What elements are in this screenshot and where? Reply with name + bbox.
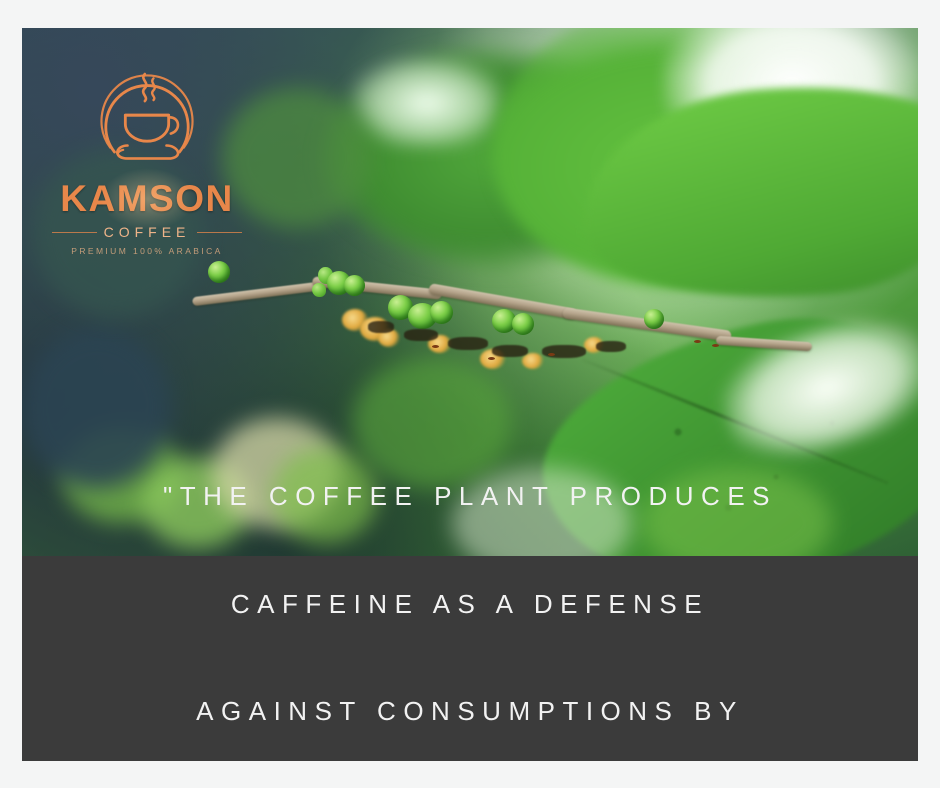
- quote-banner: "THE COFFEE PLANT PRODUCES CAFFEINE AS A…: [22, 556, 918, 761]
- sky-highlight-top: [662, 28, 918, 138]
- ant: [488, 357, 495, 360]
- branch-debris: [448, 337, 488, 350]
- branch-debris: [542, 345, 586, 358]
- branch-debris: [404, 329, 438, 341]
- branch-segment: [192, 281, 327, 306]
- upper-right-leaf-mass: [492, 28, 918, 288]
- branch-segment: [716, 336, 812, 352]
- poster-card: KAMSON COFFEE PREMIUM 100% ARABICA "THE …: [22, 28, 918, 761]
- coffee-cherry: [512, 313, 534, 335]
- coffee-cherry: [344, 275, 365, 296]
- coffee-branch: [192, 253, 812, 403]
- divider-right: [197, 232, 242, 233]
- coffee-bud: [312, 283, 326, 297]
- ant: [548, 353, 555, 356]
- quote-line: "THE COFFEE PLANT PRODUCES: [163, 479, 777, 515]
- coffee-cherry: [644, 309, 664, 329]
- poster-page: KAMSON COFFEE PREMIUM 100% ARABICA "THE …: [0, 0, 940, 788]
- quote-line: CAFFEINE AS A DEFENSE: [163, 587, 777, 623]
- dried-blossom: [522, 353, 544, 369]
- sky-highlight-left: [352, 58, 502, 148]
- coffee-cherry: [430, 301, 453, 324]
- brand-logo: KAMSON COFFEE PREMIUM 100% ARABICA: [52, 48, 242, 256]
- quote-line: AGAINST CONSUMPTIONS BY: [163, 694, 777, 730]
- brand-subtitle-row: COFFEE: [52, 224, 242, 240]
- brand-subtitle: COFFEE: [104, 224, 191, 240]
- ant: [712, 344, 719, 347]
- ant: [694, 340, 701, 343]
- coffee-cherry: [208, 261, 230, 283]
- branch-debris: [492, 345, 528, 357]
- bokeh-blob: [222, 88, 372, 228]
- ant: [432, 345, 439, 348]
- branch-debris: [596, 341, 626, 352]
- branch-debris: [368, 321, 394, 333]
- brand-name: KAMSON: [52, 180, 242, 217]
- divider-left: [52, 232, 97, 233]
- brand-tagline: PREMIUM 100% ARABICA: [52, 246, 242, 256]
- quote-text: "THE COFFEE PLANT PRODUCES CAFFEINE AS A…: [123, 407, 817, 761]
- coffee-cup-in-circle-icon: [82, 48, 212, 178]
- mid-foliage-blur: [322, 48, 652, 268]
